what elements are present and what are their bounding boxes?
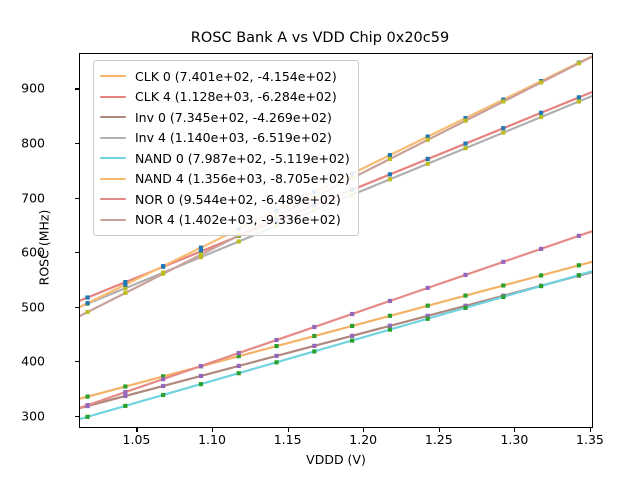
data-point xyxy=(426,304,430,308)
data-point xyxy=(577,273,581,277)
data-point xyxy=(350,334,354,338)
x-tick-mark xyxy=(288,428,289,432)
data-point xyxy=(577,263,581,267)
legend-swatch-icon xyxy=(100,75,126,77)
data-point xyxy=(539,80,543,84)
data-point xyxy=(388,177,392,181)
x-tick-label: 1.35 xyxy=(576,432,604,447)
legend-swatch-icon xyxy=(100,116,126,118)
data-point xyxy=(577,95,581,99)
data-point xyxy=(577,234,581,238)
data-point xyxy=(388,153,392,157)
data-point xyxy=(199,382,203,386)
x-axis-label: VDDD (V) xyxy=(79,452,593,467)
data-point xyxy=(85,301,89,305)
legend-swatch-icon xyxy=(100,178,126,180)
data-point xyxy=(350,338,354,342)
legend-label: NAND 0 (7.987e+02, -5.119e+02) xyxy=(135,151,350,166)
legend-label: NOR 4 (1.402e+03, -9.336e+02) xyxy=(135,212,341,227)
legend-item-nor-4[interactable]: NOR 4 (1.402e+03, -9.336e+02) xyxy=(100,210,350,231)
data-point xyxy=(501,131,505,135)
data-point xyxy=(388,299,392,303)
data-point xyxy=(237,364,241,368)
x-tick-label: 1.10 xyxy=(198,432,226,447)
legend-item-clk-0[interactable]: CLK 0 (7.401e+02, -4.154e+02) xyxy=(100,66,350,87)
legend-item-clk-4[interactable]: CLK 4 (1.128e+03, -6.284e+02) xyxy=(100,87,350,108)
legend-item-inv-0[interactable]: Inv 0 (7.345e+02, -4.269e+02) xyxy=(100,107,350,128)
x-tick-mark xyxy=(212,428,213,432)
data-point xyxy=(237,371,241,375)
data-point xyxy=(237,351,241,355)
data-point xyxy=(463,293,467,297)
data-point xyxy=(350,312,354,316)
data-point xyxy=(539,111,543,115)
data-point xyxy=(123,283,127,287)
x-tick-mark xyxy=(590,428,591,432)
data-point xyxy=(161,384,165,388)
data-point xyxy=(426,162,430,166)
series-nand-0 xyxy=(80,271,593,419)
legend-item-nor-0[interactable]: NOR 0 (9.544e+02, -6.489e+02) xyxy=(100,189,350,210)
legend-swatch-icon xyxy=(100,219,126,221)
data-point xyxy=(274,338,278,342)
legend-item-nand-0[interactable]: NAND 0 (7.987e+02, -5.119e+02) xyxy=(100,148,350,169)
data-point xyxy=(312,344,316,348)
legend-swatch-icon xyxy=(100,137,126,139)
legend-swatch-icon xyxy=(100,157,126,159)
data-point xyxy=(312,349,316,353)
y-tick-label: 800 xyxy=(21,136,45,151)
data-point xyxy=(501,126,505,130)
data-point xyxy=(539,115,543,119)
legend-item-inv-4[interactable]: Inv 4 (1.140e+03, -6.519e+02) xyxy=(100,128,350,149)
data-point xyxy=(350,324,354,328)
series-nor-0 xyxy=(80,231,593,408)
data-point xyxy=(463,273,467,277)
series-clk-0 xyxy=(80,261,593,398)
data-point xyxy=(577,61,581,65)
data-point xyxy=(501,260,505,264)
x-tick-label: 1.05 xyxy=(123,432,151,447)
legend-label: CLK 4 (1.128e+03, -6.284e+02) xyxy=(135,89,337,104)
data-point xyxy=(388,172,392,176)
data-point xyxy=(274,344,278,348)
data-point xyxy=(199,246,203,250)
data-point xyxy=(426,317,430,321)
data-point xyxy=(463,306,467,310)
data-point xyxy=(463,119,467,123)
data-point xyxy=(463,141,467,145)
data-point xyxy=(274,354,278,358)
data-point xyxy=(463,146,467,150)
data-point xyxy=(539,247,543,251)
x-tick-label: 1.15 xyxy=(274,432,302,447)
data-point xyxy=(501,283,505,287)
y-tick-label: 400 xyxy=(21,354,45,369)
x-tick-mark xyxy=(514,428,515,432)
data-point xyxy=(161,264,165,268)
legend-label: Inv 0 (7.345e+02, -4.269e+02) xyxy=(135,110,332,125)
data-point xyxy=(85,310,89,314)
matplotlib-figure: ROSC Bank A vs VDD Chip 0x20c59 ROSC (MH… xyxy=(0,0,640,480)
x-tick-mark xyxy=(363,428,364,432)
y-tick-label: 300 xyxy=(21,408,45,423)
data-point xyxy=(312,325,316,329)
legend-label: NAND 4 (1.356e+03, -8.705e+02) xyxy=(135,171,350,186)
x-tick-label: 1.20 xyxy=(349,432,377,447)
data-point xyxy=(161,377,165,381)
x-tick-label: 1.25 xyxy=(425,432,453,447)
y-tick-label: 700 xyxy=(21,190,45,205)
y-tick-label: 600 xyxy=(21,245,45,260)
data-point xyxy=(539,273,543,277)
data-point xyxy=(501,295,505,299)
series-line xyxy=(80,231,593,408)
y-tick-label: 500 xyxy=(21,299,45,314)
x-tick-label: 1.30 xyxy=(500,432,528,447)
data-point xyxy=(199,252,203,256)
data-point xyxy=(123,394,127,398)
data-point xyxy=(388,314,392,318)
data-point xyxy=(161,272,165,276)
series-line xyxy=(80,261,593,398)
legend-item-nand-4[interactable]: NAND 4 (1.356e+03, -8.705e+02) xyxy=(100,169,350,190)
data-point xyxy=(501,99,505,103)
legend-swatch-icon xyxy=(100,198,126,200)
data-point xyxy=(237,239,241,243)
data-point xyxy=(85,415,89,419)
legend-label: CLK 0 (7.401e+02, -4.154e+02) xyxy=(135,69,337,84)
data-point xyxy=(123,384,127,388)
data-point xyxy=(85,394,89,398)
x-tick-mark xyxy=(439,428,440,432)
data-point xyxy=(161,393,165,397)
x-tick-mark xyxy=(136,428,137,432)
data-point xyxy=(199,374,203,378)
data-point xyxy=(426,157,430,161)
series-line xyxy=(80,271,593,419)
data-point xyxy=(85,295,89,299)
legend-label: Inv 4 (1.140e+03, -6.519e+02) xyxy=(135,130,332,145)
data-point xyxy=(312,334,316,338)
data-point xyxy=(123,390,127,394)
y-tick-label: 900 xyxy=(21,81,45,96)
chart-legend[interactable]: CLK 0 (7.401e+02, -4.154e+02)CLK 4 (1.12… xyxy=(93,60,359,236)
data-point xyxy=(426,138,430,142)
data-point xyxy=(577,99,581,103)
legend-label: NOR 0 (9.544e+02, -6.489e+02) xyxy=(135,192,341,207)
data-point xyxy=(388,324,392,328)
data-point xyxy=(85,403,89,407)
chart-title: ROSC Bank A vs VDD Chip 0x20c59 xyxy=(0,30,640,46)
data-point xyxy=(123,291,127,295)
data-point xyxy=(388,328,392,332)
data-point xyxy=(123,404,127,408)
data-point xyxy=(199,364,203,368)
data-point xyxy=(388,157,392,161)
data-point xyxy=(274,360,278,364)
data-point xyxy=(426,286,430,290)
data-point xyxy=(539,284,543,288)
legend-swatch-icon xyxy=(100,96,126,98)
